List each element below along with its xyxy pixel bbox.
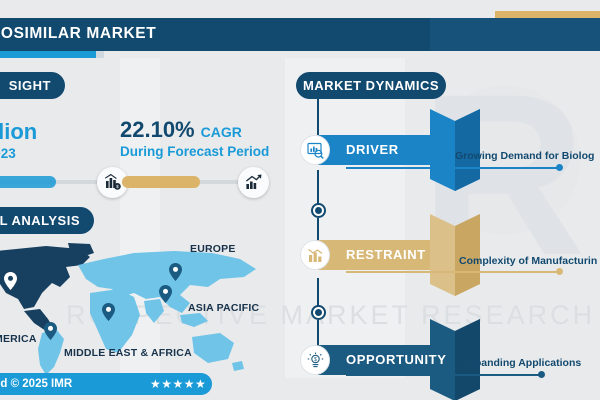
market-size-value: Billion bbox=[0, 120, 37, 144]
presentation-chart-icon bbox=[300, 135, 330, 165]
map-pin-europe[interactable] bbox=[169, 263, 182, 286]
market-size-stat: Billion in 2023 bbox=[0, 120, 37, 161]
cagr-period: During Forecast Period bbox=[120, 144, 269, 159]
header-bar-highlight bbox=[430, 18, 600, 51]
cagr-stat: 22.10% CAGR During Forecast Period bbox=[120, 118, 269, 159]
restraint-callout-line bbox=[346, 271, 560, 273]
market-size-year: in 2023 bbox=[0, 146, 37, 161]
map-pin-south-america[interactable] bbox=[44, 322, 57, 345]
dynamics-node bbox=[311, 305, 326, 320]
header-underline bbox=[0, 51, 96, 58]
opportunity-callout-text: Expanding Applications bbox=[462, 357, 581, 369]
dynamics-node bbox=[311, 203, 326, 218]
market-size-slider-fill bbox=[0, 176, 56, 188]
header-underline-tail bbox=[96, 51, 104, 58]
cagr-label: CAGR bbox=[201, 124, 242, 140]
footer-copyright: ed © 2025 IMR bbox=[0, 378, 72, 390]
restraint-callout-dot bbox=[556, 268, 563, 275]
section-pill-market-dynamics: MARKET DYNAMICS bbox=[296, 72, 446, 99]
map-pin-asia-pacific[interactable] bbox=[159, 285, 172, 308]
driver-label: DRIVER bbox=[346, 135, 399, 165]
section-pill-insight: SIGHT bbox=[0, 72, 65, 99]
restraint-callout-text: Complexity of Manufacturin bbox=[459, 255, 597, 267]
driver-callout-dot bbox=[556, 164, 563, 171]
dynamics-connector-line bbox=[317, 170, 319, 204]
svg-text:$: $ bbox=[116, 184, 119, 189]
cagr-slider-knob[interactable] bbox=[238, 167, 269, 198]
cagr-value: 22.10% bbox=[120, 118, 195, 142]
region-label-europe: EUROPE bbox=[190, 243, 236, 255]
lightbulb-idea-icon: $ bbox=[300, 345, 330, 375]
cagr-slider-fill bbox=[122, 176, 200, 188]
map-pin-north-america[interactable] bbox=[4, 272, 17, 295]
map-pin-middle-east-africa[interactable] bbox=[102, 303, 115, 326]
svg-text:$: $ bbox=[314, 356, 317, 362]
opportunity-callout-line bbox=[346, 374, 542, 376]
region-label-middle-east-africa: MIDDLE EAST & AFRICA bbox=[64, 347, 192, 359]
page-title: IOSIMILAR MARKET bbox=[0, 25, 156, 43]
dynamics-connector-line bbox=[317, 218, 319, 242]
dynamics-connector-line bbox=[317, 278, 319, 306]
dynamics-connector-line bbox=[317, 320, 319, 346]
declining-chart-icon bbox=[300, 240, 330, 270]
section-pill-geographical-analysis: CAL ANALYSIS bbox=[0, 207, 94, 234]
restraint-label: RESTRAINT bbox=[346, 240, 426, 270]
region-label-america: MERICA bbox=[0, 333, 37, 345]
gold-accent-bar bbox=[495, 11, 600, 18]
opportunity-label: OPPORTUNITY bbox=[346, 345, 447, 375]
region-label-asia-pacific: ASIA PACIFIC bbox=[188, 302, 259, 314]
footer-rating-stars: ★★★★★ bbox=[150, 377, 206, 391]
driver-callout-line bbox=[346, 167, 560, 169]
dynamics-connector-line bbox=[317, 99, 319, 135]
infographic-canvas: R ROSPECTIVE MARKET RESEARCH IOSIMILAR M… bbox=[0, 0, 600, 400]
opportunity-callout-dot bbox=[538, 371, 545, 378]
driver-callout-text: Growing Demand for Biolog bbox=[455, 150, 594, 162]
